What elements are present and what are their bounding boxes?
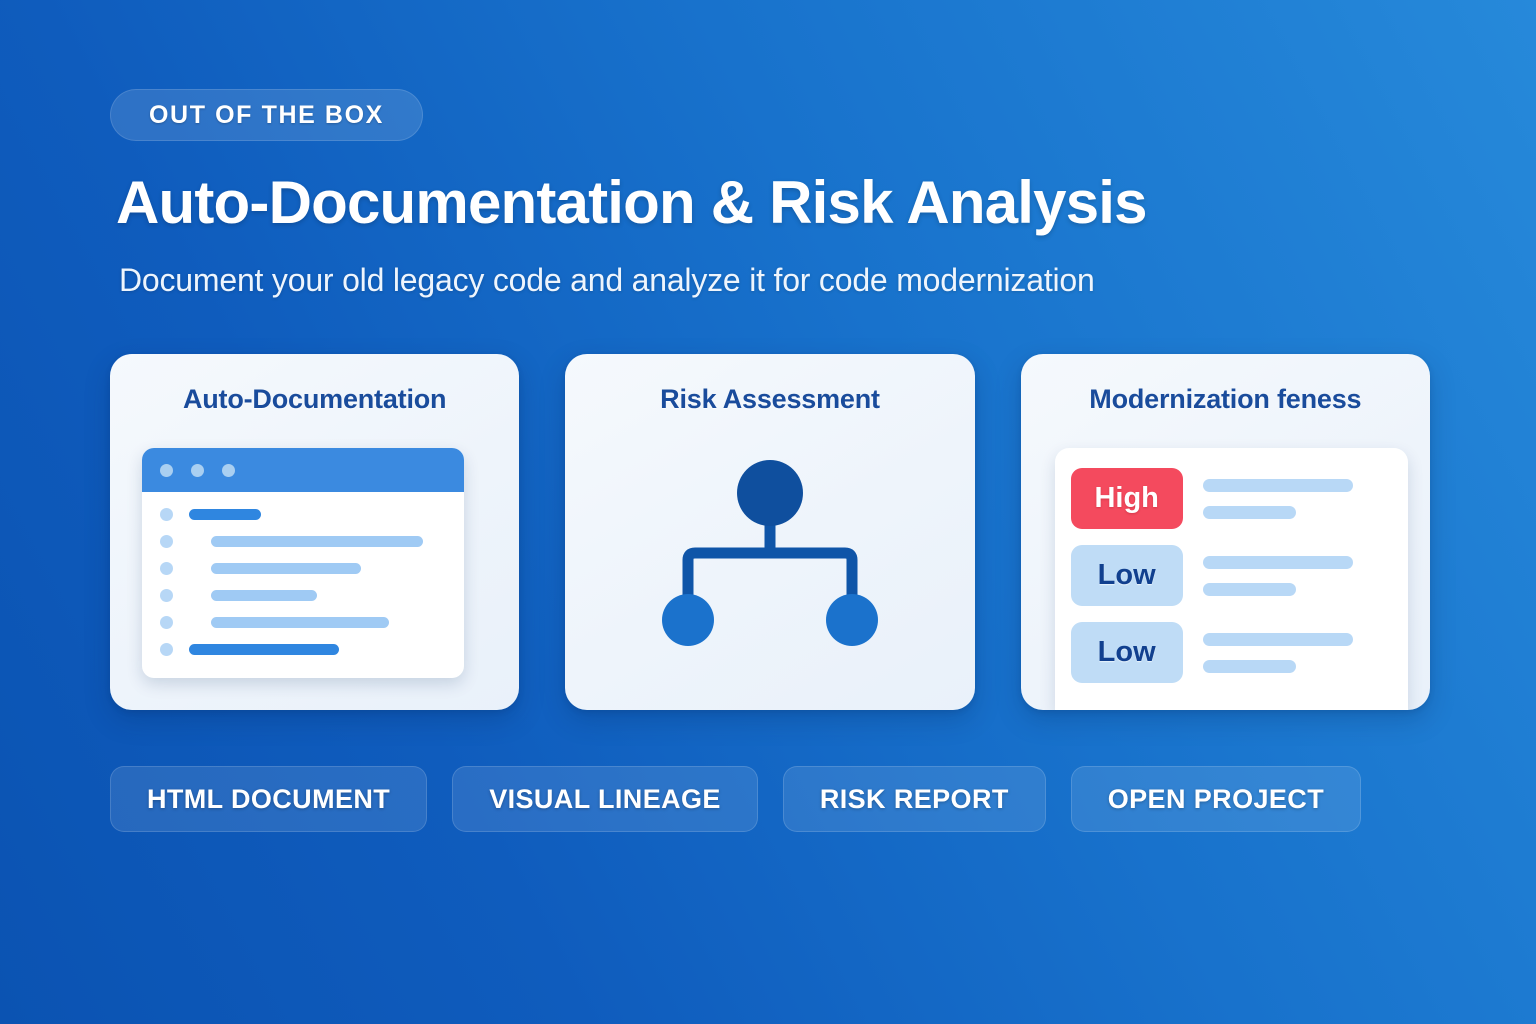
risk-detail-line	[1203, 583, 1296, 596]
risk-detail-line	[1203, 506, 1296, 519]
browser-titlebar	[142, 448, 464, 492]
bullet-dot-icon	[160, 589, 173, 602]
risk-detail-lines	[1203, 633, 1392, 673]
document-line-list	[142, 492, 464, 656]
document-line-row	[142, 589, 464, 602]
open-project-button[interactable]: OPEN PROJECT	[1071, 766, 1361, 832]
tree-node-child-right	[826, 594, 878, 646]
risk-severity-badge: Low	[1071, 622, 1183, 683]
bullet-dot-icon	[160, 616, 173, 629]
html-document-button[interactable]: HTML DOCUMENT	[110, 766, 427, 832]
card-title-modernization: Modernization feness	[1021, 384, 1430, 415]
bullet-dot-icon	[160, 643, 173, 656]
visual-lineage-button[interactable]: VISUAL LINEAGE	[452, 766, 758, 832]
risk-detail-lines	[1203, 556, 1392, 596]
document-line-row	[142, 508, 464, 521]
card-title-auto-documentation: Auto-Documentation	[110, 384, 519, 415]
document-text-line	[211, 617, 389, 628]
document-text-line	[211, 536, 423, 547]
bullet-dot-icon	[160, 535, 173, 548]
risk-detail-lines	[1203, 479, 1392, 519]
page-title: Auto-Documentation & Risk Analysis	[116, 168, 1147, 237]
risk-list-item[interactable]: Low	[1055, 545, 1408, 622]
window-dot-icon	[222, 464, 235, 477]
badge-label: OUT OF THE BOX	[149, 101, 384, 130]
window-dot-icon	[160, 464, 173, 477]
risk-list-panel: HighLowLow	[1055, 448, 1408, 710]
card-title-risk-assessment: Risk Assessment	[565, 384, 974, 415]
browser-window-mock-icon	[142, 448, 464, 678]
risk-severity-badge: Low	[1071, 545, 1183, 606]
tree-connector-lines	[688, 525, 852, 600]
risk-detail-line	[1203, 556, 1353, 569]
document-line-row	[142, 643, 464, 656]
card-modernization[interactable]: Modernization feness HighLowLow	[1021, 354, 1430, 710]
bullet-dot-icon	[160, 508, 173, 521]
card-auto-documentation[interactable]: Auto-Documentation	[110, 354, 519, 710]
bullet-dot-icon	[160, 562, 173, 575]
risk-detail-line	[1203, 479, 1353, 492]
risk-list-item[interactable]: Low	[1055, 622, 1408, 699]
document-text-line	[211, 590, 317, 601]
document-line-row	[142, 562, 464, 575]
tree-node-root	[737, 460, 803, 526]
document-line-row	[142, 616, 464, 629]
page-subtitle: Document your old legacy code and analyz…	[119, 262, 1095, 299]
window-dot-icon	[191, 464, 204, 477]
document-text-line	[189, 644, 339, 655]
risk-report-button[interactable]: RISK REPORT	[783, 766, 1046, 832]
risk-list-item[interactable]: High	[1055, 468, 1408, 545]
risk-severity-badge: High	[1071, 468, 1183, 529]
document-line-row	[142, 535, 464, 548]
document-text-line	[211, 563, 361, 574]
risk-detail-line	[1203, 633, 1353, 646]
page-root: OUT OF THE BOX Auto-Documentation & Risk…	[0, 0, 1536, 1024]
hierarchy-tree-diagram-icon	[565, 450, 974, 680]
document-text-line	[189, 509, 261, 520]
tree-node-child-left	[662, 594, 714, 646]
card-risk-assessment[interactable]: Risk Assessment	[565, 354, 974, 710]
feature-cards-row: Auto-Documentation Risk Assessment	[110, 354, 1430, 710]
risk-detail-line	[1203, 660, 1296, 673]
action-button-row: HTML DOCUMENTVISUAL LINEAGERISK REPORTOP…	[110, 766, 1361, 832]
out-of-the-box-badge: OUT OF THE BOX	[110, 89, 423, 141]
